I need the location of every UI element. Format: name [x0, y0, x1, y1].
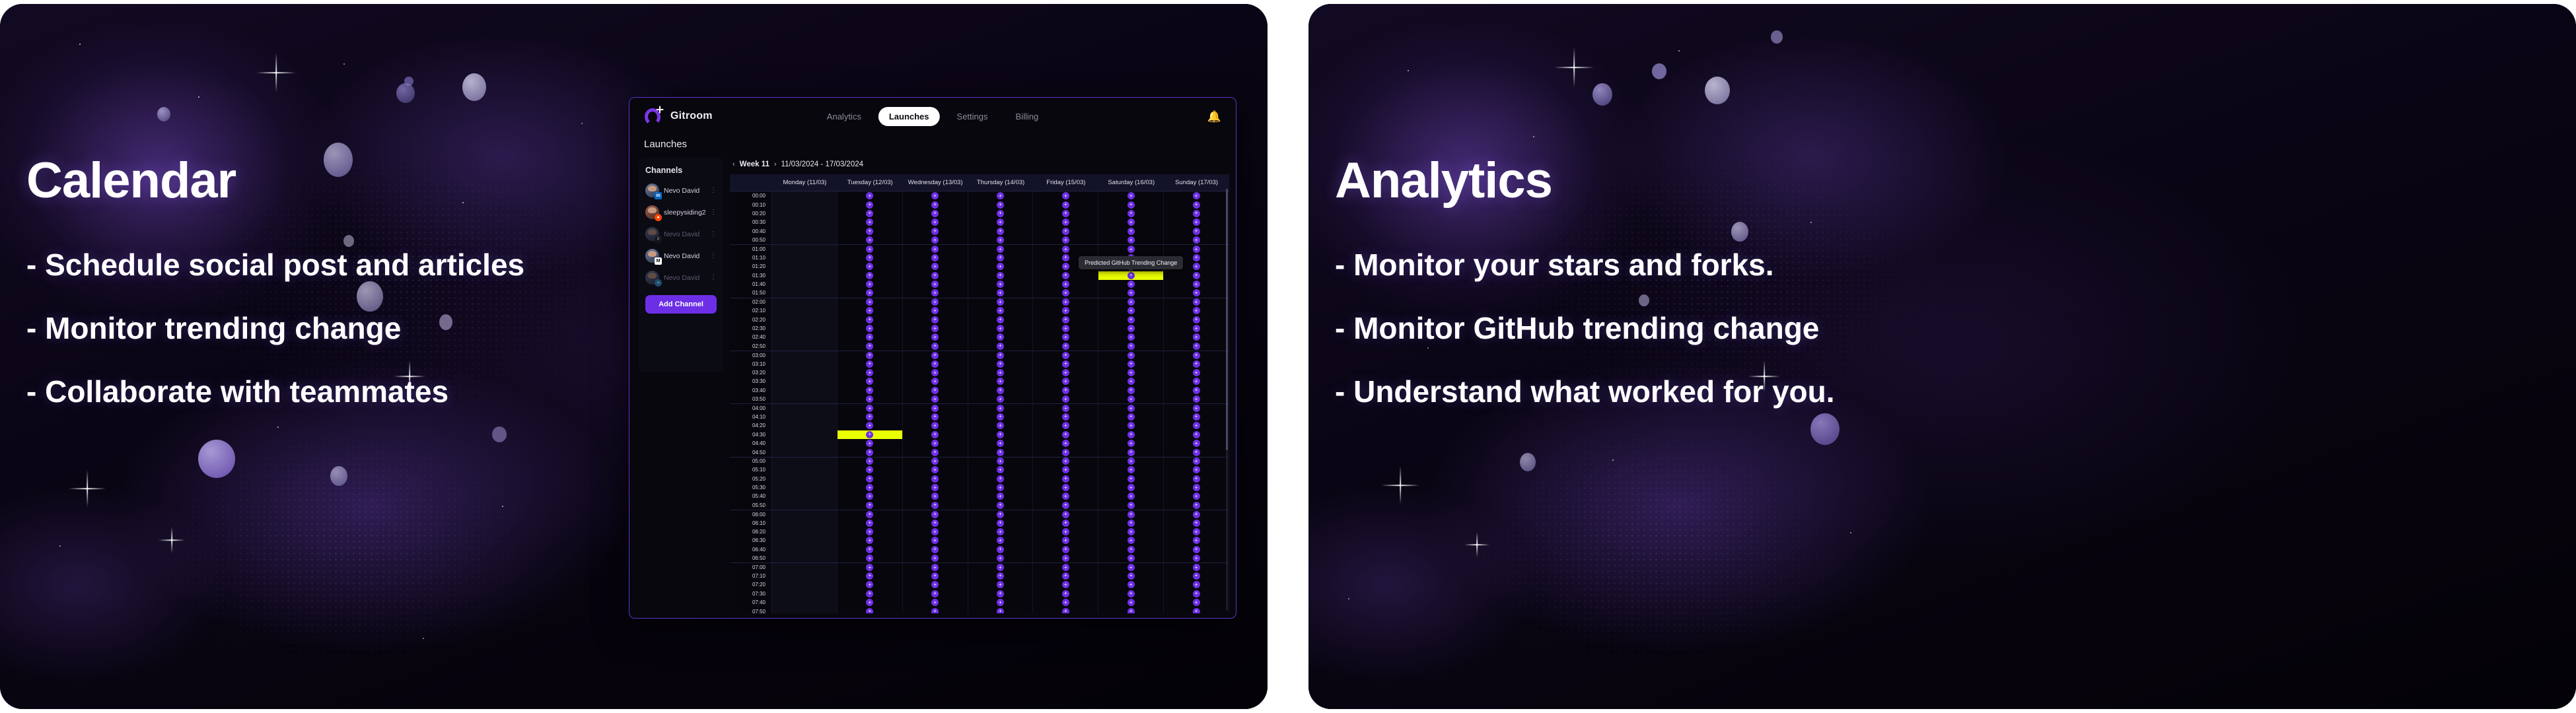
calendar-slot[interactable]: + [968, 501, 1034, 510]
calendar-slot[interactable]: + [1164, 315, 1229, 323]
add-slot-icon[interactable]: + [931, 458, 939, 465]
add-slot-icon[interactable]: + [1193, 246, 1200, 253]
calendar-slot[interactable]: + [1033, 465, 1098, 474]
add-slot-icon[interactable]: + [1127, 520, 1135, 527]
add-slot-icon[interactable]: + [1127, 502, 1135, 509]
calendar-slot[interactable]: + [1164, 501, 1229, 510]
calendar-slot[interactable]: + [903, 483, 968, 492]
add-slot-icon[interactable]: + [866, 537, 873, 544]
calendar-slot[interactable]: + [968, 413, 1034, 421]
add-slot-icon[interactable]: + [866, 422, 873, 429]
add-slot-icon[interactable]: + [1062, 466, 1069, 473]
calendar-slot[interactable]: + [903, 448, 968, 456]
add-slot-icon[interactable]: + [1127, 413, 1135, 421]
add-slot-icon[interactable]: + [997, 263, 1004, 270]
calendar-slot[interactable]: + [1098, 492, 1164, 500]
calendar-slot[interactable]: + [968, 430, 1034, 439]
calendar-slot[interactable]: + [903, 262, 968, 271]
calendar-slot[interactable] [772, 545, 838, 554]
calendar-slot[interactable]: + [1164, 306, 1229, 315]
calendar-slot[interactable]: + [903, 209, 968, 218]
add-slot-icon[interactable]: + [931, 316, 939, 323]
add-slot-icon[interactable]: + [1193, 272, 1200, 279]
calendar-slot[interactable]: + [1033, 315, 1098, 323]
add-slot-icon[interactable]: + [866, 360, 873, 368]
calendar-slot[interactable]: + [1033, 191, 1098, 200]
calendar-slot[interactable]: + [1033, 527, 1098, 536]
add-slot-icon[interactable]: + [866, 263, 873, 270]
add-slot-icon[interactable]: + [931, 413, 939, 421]
calendar-slot[interactable]: + [968, 404, 1034, 412]
calendar-slot[interactable]: + [968, 580, 1034, 589]
add-slot-icon[interactable]: + [1127, 590, 1135, 597]
calendar-slot[interactable]: + [1033, 448, 1098, 456]
calendar-slot[interactable]: + [838, 545, 903, 554]
add-slot-icon[interactable]: + [1127, 343, 1135, 350]
calendar-slot[interactable]: + [1098, 191, 1164, 200]
calendar-slot[interactable]: + [1033, 421, 1098, 430]
add-slot-icon[interactable]: + [931, 564, 939, 571]
add-slot-icon[interactable]: + [866, 431, 873, 438]
calendar-slot[interactable] [772, 315, 838, 323]
calendar-slot[interactable]: + [903, 306, 968, 315]
add-slot-icon[interactable]: + [1062, 192, 1069, 199]
calendar-slot[interactable] [772, 351, 838, 359]
calendar-slot[interactable]: + [1033, 598, 1098, 607]
calendar-slot[interactable]: + [838, 351, 903, 359]
add-slot-icon[interactable]: + [1127, 405, 1135, 412]
calendar-slot[interactable]: + [968, 492, 1034, 500]
add-slot-icon[interactable]: + [931, 246, 939, 253]
add-slot-icon[interactable]: + [997, 520, 1004, 527]
add-slot-icon[interactable]: + [1062, 281, 1069, 288]
tab-settings[interactable]: Settings [947, 107, 999, 126]
calendar-slot[interactable]: + [903, 342, 968, 351]
calendar-slot[interactable] [772, 572, 838, 580]
calendar-slot[interactable]: + [1033, 430, 1098, 439]
calendar-slot[interactable]: + [838, 527, 903, 536]
calendar-slot[interactable]: + [1033, 518, 1098, 527]
add-slot-icon[interactable]: + [1062, 475, 1069, 483]
calendar-slot[interactable]: + [968, 262, 1034, 271]
add-slot-icon[interactable]: + [1193, 413, 1200, 421]
add-slot-icon[interactable]: + [1193, 228, 1200, 235]
calendar-slot[interactable] [772, 501, 838, 510]
add-slot-icon[interactable]: + [1127, 608, 1135, 613]
calendar-slot[interactable]: + [1098, 598, 1164, 607]
calendar-slot[interactable]: + [1033, 590, 1098, 598]
add-slot-icon[interactable]: + [1127, 537, 1135, 544]
add-slot-icon[interactable]: + [866, 555, 873, 562]
add-slot-icon[interactable]: + [931, 192, 939, 199]
add-slot-icon[interactable]: + [1127, 316, 1135, 323]
channel-item[interactable]: inNevo David⋮ [645, 184, 717, 197]
calendar-slot[interactable]: + [1033, 563, 1098, 571]
add-slot-icon[interactable]: + [997, 219, 1004, 226]
add-channel-button[interactable]: Add Channel [645, 295, 717, 314]
add-slot-icon[interactable]: + [1193, 520, 1200, 527]
calendar-slot[interactable]: + [903, 359, 968, 368]
calendar-slot[interactable]: + [838, 254, 903, 262]
add-slot-icon[interactable]: + [997, 405, 1004, 412]
add-slot-icon[interactable]: + [997, 484, 1004, 491]
calendar-slot[interactable]: + [1098, 359, 1164, 368]
calendar-slot[interactable]: + [968, 351, 1034, 359]
calendar-slot[interactable]: + [968, 563, 1034, 571]
add-slot-icon[interactable]: + [931, 281, 939, 288]
calendar-slot[interactable]: + [838, 554, 903, 562]
add-slot-icon[interactable]: + [931, 254, 939, 261]
calendar-slot[interactable]: + [1164, 333, 1229, 341]
calendar-slot[interactable]: + [1033, 475, 1098, 483]
calendar-slot[interactable]: + [968, 598, 1034, 607]
add-slot-icon[interactable]: + [1127, 272, 1135, 279]
channel-item[interactable]: MNevo David⋮ [645, 249, 717, 263]
calendar-slot[interactable]: + [903, 368, 968, 377]
calendar-slot[interactable]: + [1164, 510, 1229, 518]
calendar-slot[interactable]: + [1098, 421, 1164, 430]
calendar-slot[interactable]: + [838, 492, 903, 500]
calendar-slot[interactable]: + [1033, 404, 1098, 412]
add-slot-icon[interactable]: + [1193, 236, 1200, 244]
calendar-slot[interactable]: + [838, 315, 903, 323]
add-slot-icon[interactable]: + [866, 298, 873, 306]
add-slot-icon[interactable]: + [997, 590, 1004, 597]
add-slot-icon[interactable]: + [1127, 352, 1135, 359]
calendar-slot[interactable]: + [1098, 324, 1164, 333]
add-slot-icon[interactable]: + [866, 281, 873, 288]
calendar-slot[interactable]: + [1098, 298, 1164, 306]
add-slot-icon[interactable]: + [1193, 395, 1200, 403]
add-slot-icon[interactable]: + [1193, 422, 1200, 429]
add-slot-icon[interactable]: + [997, 387, 1004, 394]
add-slot-icon[interactable]: + [997, 572, 1004, 580]
add-slot-icon[interactable]: + [866, 333, 873, 341]
add-slot-icon[interactable]: + [1127, 387, 1135, 394]
add-slot-icon[interactable]: + [997, 236, 1004, 244]
calendar-slot[interactable]: + [903, 430, 968, 439]
calendar-slot[interactable]: + [1033, 580, 1098, 589]
calendar-slot[interactable]: + [1098, 368, 1164, 377]
add-slot-icon[interactable]: + [931, 449, 939, 456]
calendar-slot[interactable]: + [903, 245, 968, 253]
add-slot-icon[interactable]: + [866, 387, 873, 394]
add-slot-icon[interactable]: + [1127, 325, 1135, 332]
prev-week-button[interactable]: ‹ [733, 160, 735, 168]
calendar-slot[interactable] [772, 439, 838, 448]
calendar-slot[interactable]: + [903, 280, 968, 289]
calendar-slot[interactable]: + [1033, 510, 1098, 518]
calendar-slot[interactable]: + [968, 527, 1034, 536]
calendar-slot[interactable]: + [968, 324, 1034, 333]
calendar-slot[interactable]: + [1164, 430, 1229, 439]
calendar-slot[interactable] [772, 218, 838, 226]
calendar-slot[interactable]: + [968, 236, 1034, 244]
add-slot-icon[interactable]: + [1193, 325, 1200, 332]
calendar-slot[interactable]: + [1098, 306, 1164, 315]
calendar-slot[interactable] [772, 395, 838, 403]
calendar-slot[interactable]: + [903, 501, 968, 510]
calendar-slot[interactable]: + [838, 413, 903, 421]
add-slot-icon[interactable]: + [1193, 263, 1200, 270]
calendar-slot[interactable]: + [1033, 368, 1098, 377]
add-slot-icon[interactable]: + [1193, 333, 1200, 341]
calendar-slot[interactable]: + [968, 359, 1034, 368]
calendar-slot[interactable]: + [903, 404, 968, 412]
add-slot-icon[interactable]: + [1127, 564, 1135, 571]
add-slot-icon[interactable]: + [1062, 352, 1069, 359]
add-slot-icon[interactable]: + [1062, 272, 1069, 279]
add-slot-icon[interactable]: + [1193, 581, 1200, 588]
calendar-slot[interactable]: + [1098, 607, 1164, 613]
add-slot-icon[interactable]: + [1193, 352, 1200, 359]
add-slot-icon[interactable]: + [1062, 387, 1069, 394]
add-slot-icon[interactable]: + [1193, 608, 1200, 613]
add-slot-icon[interactable]: + [866, 572, 873, 580]
add-slot-icon[interactable]: + [931, 263, 939, 270]
channel-menu-icon[interactable]: ⋮ [710, 253, 717, 259]
calendar-slot[interactable]: + [838, 518, 903, 527]
calendar-slot[interactable]: + [903, 333, 968, 341]
calendar-slot[interactable]: + [1164, 421, 1229, 430]
add-slot-icon[interactable]: + [1062, 325, 1069, 332]
add-slot-icon[interactable]: + [1062, 581, 1069, 588]
calendar-slot[interactable]: + [838, 209, 903, 218]
add-slot-icon[interactable]: + [866, 449, 873, 456]
calendar-slot[interactable]: + [1033, 377, 1098, 386]
add-slot-icon[interactable]: + [1127, 298, 1135, 306]
calendar-slot[interactable]: + [1098, 351, 1164, 359]
add-slot-icon[interactable]: + [1062, 395, 1069, 403]
add-slot-icon[interactable]: + [1062, 590, 1069, 597]
calendar-slot[interactable]: + [968, 333, 1034, 341]
add-slot-icon[interactable]: + [866, 289, 873, 296]
add-slot-icon[interactable]: + [1062, 219, 1069, 226]
add-slot-icon[interactable]: + [1127, 246, 1135, 253]
calendar-slot[interactable]: + [838, 458, 903, 465]
add-slot-icon[interactable]: + [931, 440, 939, 447]
calendar-slot[interactable]: + [838, 191, 903, 200]
add-slot-icon[interactable]: + [1193, 387, 1200, 394]
add-slot-icon[interactable]: + [866, 369, 873, 376]
add-slot-icon[interactable]: + [866, 219, 873, 226]
calendar-slot[interactable]: + [1033, 209, 1098, 218]
calendar-slot[interactable]: + [903, 580, 968, 589]
calendar-slot[interactable]: + [1164, 527, 1229, 536]
next-week-button[interactable]: › [774, 160, 777, 168]
calendar-slot[interactable]: + [903, 395, 968, 403]
add-slot-icon[interactable]: + [1062, 369, 1069, 376]
calendar-slot[interactable]: + [838, 359, 903, 368]
add-slot-icon[interactable]: + [1062, 599, 1069, 606]
add-slot-icon[interactable]: + [931, 333, 939, 341]
calendar-slot[interactable]: + [968, 510, 1034, 518]
calendar-slot[interactable]: + [838, 200, 903, 209]
add-slot-icon[interactable]: + [931, 537, 939, 544]
add-slot-icon[interactable]: + [997, 360, 1004, 368]
add-slot-icon[interactable]: + [1193, 590, 1200, 597]
add-slot-icon[interactable]: + [997, 333, 1004, 341]
add-slot-icon[interactable]: + [1062, 378, 1069, 385]
add-slot-icon[interactable]: + [1062, 555, 1069, 562]
calendar-slot[interactable]: + [903, 510, 968, 518]
add-slot-icon[interactable]: + [997, 564, 1004, 571]
calendar-slot[interactable]: + [903, 518, 968, 527]
add-slot-icon[interactable]: + [1127, 484, 1135, 491]
calendar-slot[interactable]: + [1164, 227, 1229, 236]
calendar-slot[interactable] [772, 590, 838, 598]
add-slot-icon[interactable]: + [866, 590, 873, 597]
add-slot-icon[interactable]: + [1062, 254, 1069, 261]
add-slot-icon[interactable]: + [1062, 608, 1069, 613]
calendar-slot[interactable]: + [968, 483, 1034, 492]
add-slot-icon[interactable]: + [866, 528, 873, 535]
calendar-slot[interactable]: + [838, 572, 903, 580]
calendar-slot[interactable]: + [1164, 492, 1229, 500]
add-slot-icon[interactable]: + [1193, 440, 1200, 447]
calendar-slot[interactable]: + [1033, 298, 1098, 306]
add-slot-icon[interactable]: + [931, 228, 939, 235]
add-slot-icon[interactable]: + [1127, 281, 1135, 288]
add-slot-icon[interactable]: + [1127, 458, 1135, 465]
calendar-slot[interactable]: + [1098, 545, 1164, 554]
add-slot-icon[interactable]: + [931, 210, 939, 217]
calendar-slot[interactable]: + [1098, 448, 1164, 456]
add-slot-icon[interactable]: + [931, 475, 939, 483]
add-slot-icon[interactable]: + [1193, 192, 1200, 199]
add-slot-icon[interactable]: + [997, 475, 1004, 483]
calendar-slot[interactable]: + [968, 280, 1034, 289]
calendar-slot[interactable] [772, 527, 838, 536]
add-slot-icon[interactable]: + [931, 387, 939, 394]
add-slot-icon[interactable]: + [1127, 422, 1135, 429]
calendar-slot[interactable]: + [968, 289, 1034, 297]
calendar-slot[interactable]: + [968, 475, 1034, 483]
calendar-slot[interactable]: + [903, 563, 968, 571]
calendar-slot[interactable]: + [903, 458, 968, 465]
calendar-slot[interactable] [772, 324, 838, 333]
add-slot-icon[interactable]: + [1062, 333, 1069, 341]
add-slot-icon[interactable]: + [997, 228, 1004, 235]
calendar-slot[interactable]: + [1098, 527, 1164, 536]
add-slot-icon[interactable]: + [931, 307, 939, 314]
calendar-slot[interactable] [772, 563, 838, 571]
calendar-slot[interactable]: + [1098, 413, 1164, 421]
add-slot-icon[interactable]: + [1193, 316, 1200, 323]
add-slot-icon[interactable]: + [997, 599, 1004, 606]
add-slot-icon[interactable]: + [931, 405, 939, 412]
calendar-slot[interactable]: + [1098, 458, 1164, 465]
add-slot-icon[interactable]: + [1127, 528, 1135, 535]
add-slot-icon[interactable]: + [866, 405, 873, 412]
add-slot-icon[interactable]: + [931, 378, 939, 385]
calendar-slot[interactable] [772, 475, 838, 483]
calendar-slot[interactable]: + [1033, 227, 1098, 236]
calendar-slot[interactable]: + [1098, 377, 1164, 386]
calendar-slot[interactable] [772, 191, 838, 200]
calendar-scrollbar[interactable] [1226, 189, 1228, 611]
calendar-slot[interactable]: + [1098, 218, 1164, 226]
calendar-slot[interactable]: + [1098, 404, 1164, 412]
calendar-slot[interactable] [772, 306, 838, 315]
add-slot-icon[interactable]: + [1193, 254, 1200, 261]
calendar-slot[interactable]: + [968, 209, 1034, 218]
calendar-slot[interactable]: + [1098, 245, 1164, 253]
calendar-slot[interactable] [772, 333, 838, 341]
calendar-slot[interactable]: + [903, 191, 968, 200]
add-slot-icon[interactable]: + [997, 298, 1004, 306]
calendar-slot[interactable] [772, 483, 838, 492]
add-slot-icon[interactable]: + [866, 352, 873, 359]
calendar-slot[interactable] [772, 536, 838, 545]
add-slot-icon[interactable]: + [997, 272, 1004, 279]
add-slot-icon[interactable]: + [1127, 555, 1135, 562]
calendar-slot[interactable]: + [1164, 458, 1229, 465]
add-slot-icon[interactable]: + [866, 228, 873, 235]
calendar-slot[interactable]: + [968, 271, 1034, 280]
add-slot-icon[interactable]: + [931, 272, 939, 279]
calendar-slot[interactable]: + [1033, 342, 1098, 351]
channel-item[interactable]: XNevo David⋮ [645, 227, 717, 241]
add-slot-icon[interactable]: + [1062, 316, 1069, 323]
add-slot-icon[interactable]: + [1127, 431, 1135, 438]
calendar-slot[interactable] [772, 421, 838, 430]
calendar-slot[interactable]: + [838, 271, 903, 280]
calendar-slot-highlighted[interactable]: + [838, 430, 903, 439]
calendar-slot[interactable]: + [1098, 590, 1164, 598]
add-slot-icon[interactable]: + [1127, 192, 1135, 199]
add-slot-icon[interactable]: + [1062, 449, 1069, 456]
add-slot-icon[interactable]: + [1127, 581, 1135, 588]
calendar-slot[interactable]: + [968, 227, 1034, 236]
add-slot-icon[interactable]: + [1127, 333, 1135, 341]
add-slot-icon[interactable]: + [1193, 458, 1200, 465]
add-slot-icon[interactable]: + [1062, 537, 1069, 544]
calendar-slot[interactable]: + [1098, 430, 1164, 439]
add-slot-icon[interactable]: + [997, 581, 1004, 588]
calendar-slot[interactable]: + [1033, 359, 1098, 368]
add-slot-icon[interactable]: + [1062, 236, 1069, 244]
calendar-slot[interactable]: + [968, 377, 1034, 386]
add-slot-icon[interactable]: + [1062, 413, 1069, 421]
add-slot-icon[interactable]: + [931, 422, 939, 429]
add-slot-icon[interactable]: + [866, 201, 873, 209]
calendar-slot[interactable]: + [903, 545, 968, 554]
add-slot-icon[interactable]: + [1127, 511, 1135, 518]
calendar-slot[interactable]: + [838, 324, 903, 333]
calendar-slot[interactable]: + [903, 254, 968, 262]
calendar-slot[interactable]: + [838, 598, 903, 607]
add-slot-icon[interactable]: + [931, 581, 939, 588]
calendar-slot[interactable]: + [968, 607, 1034, 613]
add-slot-icon[interactable]: + [1127, 369, 1135, 376]
calendar-slot[interactable]: + [1098, 510, 1164, 518]
calendar-slot[interactable] [772, 262, 838, 271]
add-slot-icon[interactable]: + [1193, 405, 1200, 412]
add-slot-icon[interactable]: + [1193, 281, 1200, 288]
add-slot-icon[interactable]: + [997, 395, 1004, 403]
add-slot-icon[interactable]: + [1193, 219, 1200, 226]
calendar-slot[interactable]: + [903, 590, 968, 598]
add-slot-icon[interactable]: + [1193, 201, 1200, 209]
add-slot-icon[interactable]: + [1127, 466, 1135, 473]
add-slot-icon[interactable]: + [997, 458, 1004, 465]
calendar-slot[interactable]: + [838, 404, 903, 412]
calendar-slot[interactable] [772, 227, 838, 236]
add-slot-icon[interactable]: + [866, 458, 873, 465]
calendar-slot[interactable]: + [1098, 465, 1164, 474]
calendar-slot[interactable]: + [1033, 536, 1098, 545]
